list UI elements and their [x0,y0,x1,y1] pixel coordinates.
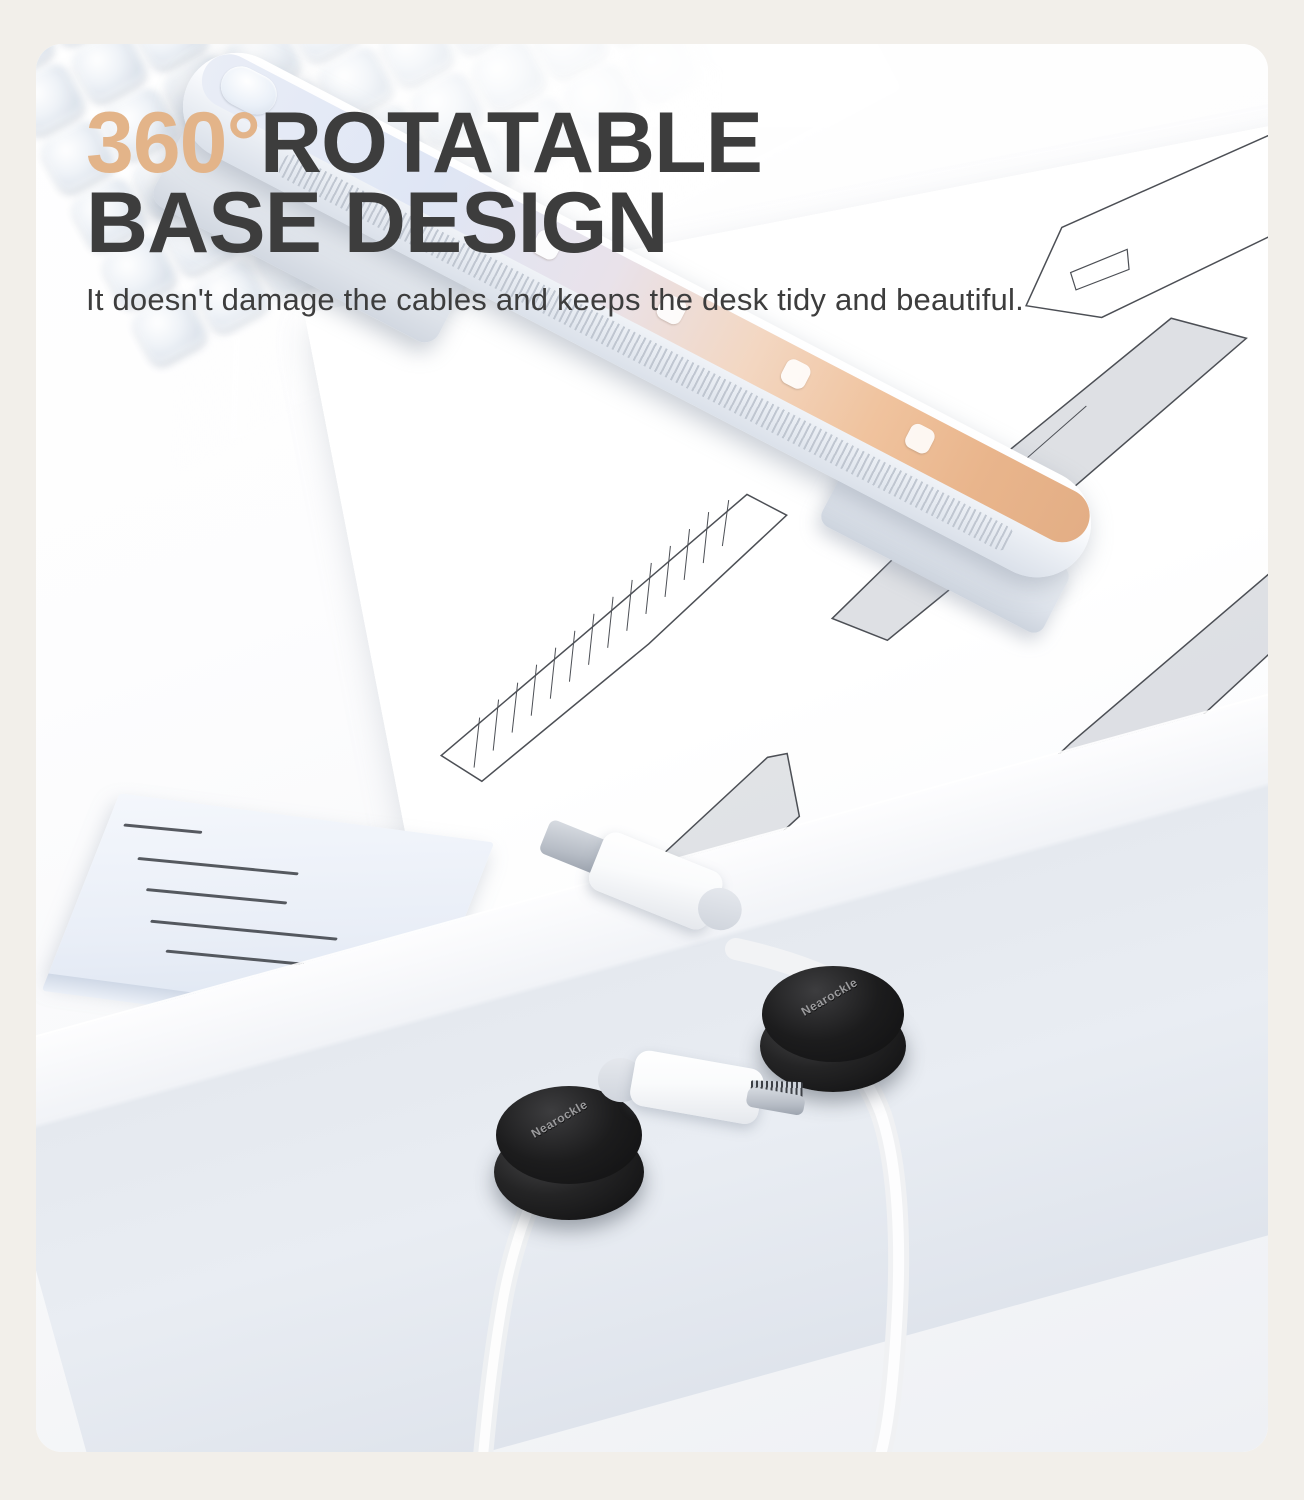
cable-usbc-lead [36,44,1268,1452]
clip-top-cap [762,966,904,1062]
marketing-banner-frame: Nearockle Nearockle 360°ROTATABLE BASE D… [0,0,1304,1500]
product-photo: Nearockle Nearockle [36,44,1268,1452]
lightning-shell [628,1048,766,1126]
